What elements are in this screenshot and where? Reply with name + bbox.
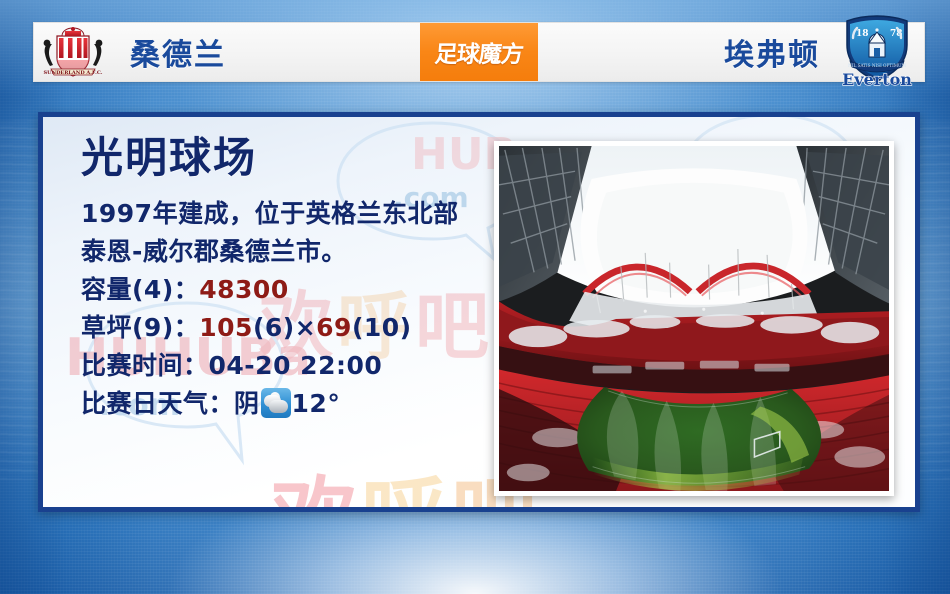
home-team-name: 桑德兰	[130, 30, 226, 74]
sunderland-crest-icon: SUNDERLAND A.F.C.	[38, 24, 108, 80]
everton-crest-icon: 18 78 NIL SATIS NISI OPTIMUM Everton	[834, 14, 920, 90]
pitch-length-value: 105	[199, 313, 253, 342]
stadium-description-line-1: 1997年建成，位于英格兰东北部	[81, 195, 459, 233]
capacity-label: 容量(4)：	[81, 275, 199, 304]
match-time-label: 比赛时间：	[81, 351, 209, 380]
svg-text:18: 18	[856, 29, 869, 39]
pitch-label: 草坪(9)：	[81, 313, 199, 342]
page-title: 光明球场	[81, 135, 459, 181]
match-time-value: 04-20 22:00	[209, 351, 383, 380]
site-brand-logo[interactable]: 足球魔方	[420, 23, 538, 81]
away-team-block[interactable]: 埃弗顿 18 78	[538, 14, 924, 90]
capacity-value: 48300	[199, 275, 288, 304]
stadium-photo	[499, 146, 889, 491]
capacity-row: 容量(4)：48300	[81, 271, 459, 309]
stadium-photo-frame	[494, 141, 894, 496]
match-header-bar: SUNDERLAND A.F.C. 桑德兰 足球魔方 埃弗顿 18 78	[33, 22, 925, 82]
pitch-dimension-separator: ×	[295, 313, 316, 342]
away-team-name: 埃弗顿	[724, 30, 820, 74]
home-team-block[interactable]: SUNDERLAND A.F.C. 桑德兰	[34, 24, 420, 80]
brand-label: 足球魔方	[434, 35, 525, 69]
stadium-info-text: 光明球场 1997年建成，位于英格兰东北部 泰恩-威尔郡桑德兰市。 容量(4)：…	[81, 135, 459, 423]
pitch-width-value: 69	[316, 313, 352, 342]
weather-condition: 阴	[234, 389, 260, 418]
cloudy-weather-icon	[261, 388, 291, 418]
pitch-row: 草坪(9)：105(6)×69(10)	[81, 309, 459, 347]
weather-temperature: 12°	[292, 389, 341, 418]
svg-text:SUNDERLAND A.F.C.: SUNDERLAND A.F.C.	[44, 70, 103, 76]
stadium-info-card: HUB .com 欢呼吧 HUHUBa .com 欢呼吧 .com	[38, 112, 920, 512]
pitch-length-rank: (6)	[253, 313, 295, 342]
match-time-row: 比赛时间：04-20 22:00	[81, 347, 459, 385]
weather-label: 比赛日天气：	[81, 389, 234, 418]
pitch-width-rank: (10)	[352, 313, 412, 342]
svg-text:Everton: Everton	[842, 70, 912, 89]
svg-text:NIL SATIS NISI OPTIMUM: NIL SATIS NISI OPTIMUM	[848, 63, 906, 68]
stadium-description-line-2: 泰恩-威尔郡桑德兰市。	[81, 233, 459, 271]
weather-row: 比赛日天气：阴12°	[81, 385, 459, 423]
